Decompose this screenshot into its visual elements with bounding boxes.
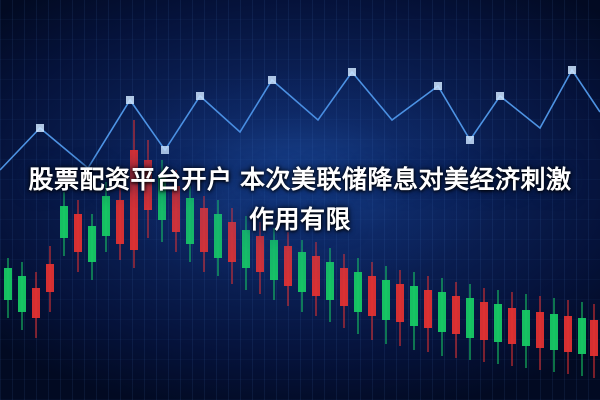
- trend-line: [0, 70, 600, 170]
- candle-body: [200, 208, 208, 252]
- trend-marker: [568, 66, 576, 74]
- candle-body: [340, 268, 348, 306]
- candle-body: [452, 296, 460, 334]
- candle-body: [410, 286, 418, 326]
- candle-body: [466, 298, 474, 338]
- trend-marker: [496, 92, 504, 100]
- candle-body: [326, 262, 334, 300]
- trend-marker: [348, 68, 356, 76]
- candle-body: [354, 272, 362, 312]
- candle-body: [32, 288, 40, 318]
- candle-body: [590, 320, 598, 356]
- trend-marker: [268, 76, 276, 84]
- trend-marker: [161, 146, 169, 154]
- trend-marker: [126, 96, 134, 104]
- candle-body: [438, 292, 446, 332]
- banner-image: 股票配资平台开户 本次美联储降息对美经济刺激 作用有限: [0, 0, 600, 400]
- candle-body: [130, 150, 138, 250]
- candle-body: [228, 222, 236, 262]
- candle-body: [578, 318, 586, 354]
- candle-body: [494, 304, 502, 342]
- candle-body: [172, 186, 180, 232]
- trend-marker: [466, 136, 474, 144]
- candle-body: [88, 226, 96, 262]
- candle-body: [214, 214, 222, 258]
- candle-body: [550, 314, 558, 350]
- candle-body: [4, 268, 12, 300]
- candle-body: [242, 230, 250, 268]
- candle-body: [536, 312, 544, 348]
- candle-body: [284, 246, 292, 286]
- candle-body: [60, 206, 68, 238]
- trend-marker: [196, 92, 204, 100]
- trend-marker: [434, 82, 442, 90]
- candle-body: [508, 308, 516, 344]
- candle-body: [396, 284, 404, 322]
- candle-body: [46, 264, 54, 292]
- candle-body: [382, 280, 390, 320]
- candle-body: [480, 302, 488, 340]
- candle-body: [298, 252, 306, 292]
- candle-body: [368, 276, 376, 316]
- candle-body: [186, 198, 194, 244]
- candle-body: [116, 200, 124, 244]
- candle-body: [564, 316, 572, 352]
- candle-body: [256, 236, 264, 272]
- candle-body: [158, 176, 166, 220]
- candle-body: [18, 276, 26, 312]
- candle-body: [522, 310, 530, 346]
- trend-marker: [36, 124, 44, 132]
- candlestick-chart: [0, 0, 600, 400]
- candle-body: [144, 160, 152, 210]
- candle-body: [424, 290, 432, 328]
- candle-body: [102, 196, 110, 236]
- candle-body: [312, 256, 320, 296]
- candle-body: [74, 214, 82, 252]
- candle-body: [270, 240, 278, 280]
